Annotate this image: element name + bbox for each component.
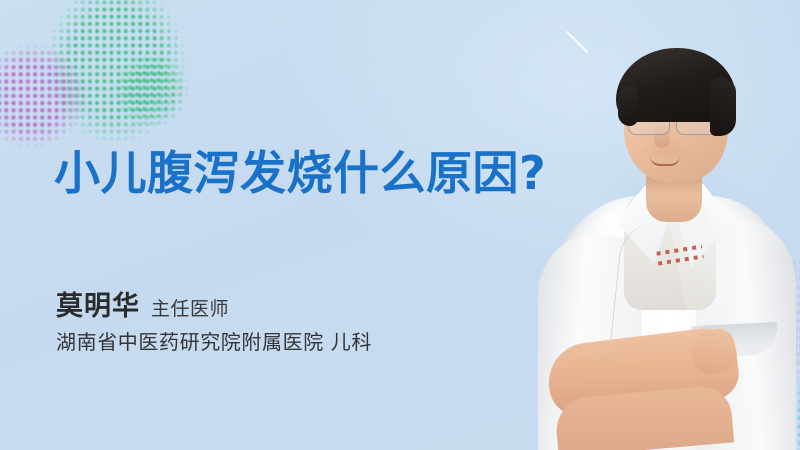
doctor-name: 莫明华 xyxy=(56,291,140,322)
purple-halftone-blob-icon xyxy=(0,42,94,150)
hair-side xyxy=(710,78,736,136)
doctor-affiliation: 湖南省中医药研究院附属医院 儿科 xyxy=(56,326,372,355)
page-title: 小儿腹泻发烧什么原因? xyxy=(54,148,546,199)
byline: 莫明华主任医师 xyxy=(56,284,229,323)
green-halftone-blob-lobe-icon xyxy=(112,48,198,134)
video-thumbnail-card: 小儿腹泻发烧什么原因? 莫明华主任医师 湖南省中医药研究院附属医院 儿科 xyxy=(0,0,800,450)
doctor-role: 主任医师 xyxy=(151,298,229,320)
hair-temple xyxy=(618,86,638,126)
doctor-portrait xyxy=(520,0,800,450)
